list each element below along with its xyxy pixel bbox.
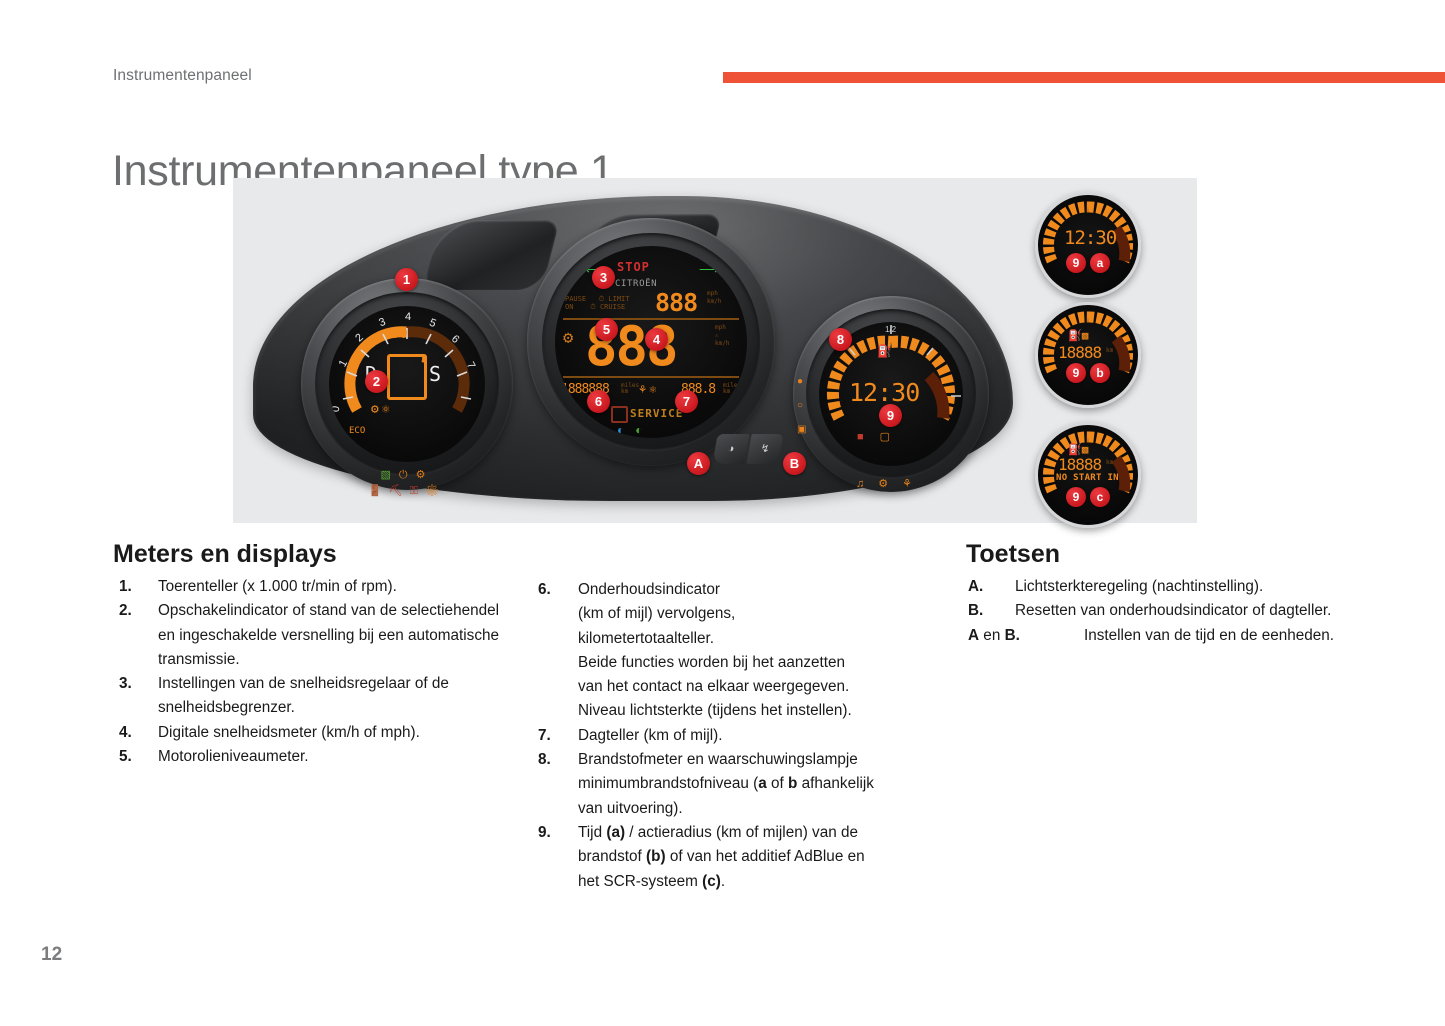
item-text: Tijd (a) / actieradius (km of mijlen) va… [578,824,865,890]
list-item: 4.Digitale snelheidsmeter (km/h of mph). [113,721,513,745]
item-text: Opschakelindicator of stand van de selec… [158,602,499,668]
item-text: van het contact na elkaar weergegeven. [578,678,849,695]
callout-1: 1 [395,268,418,291]
item-number: 2. [119,599,132,623]
middle-list: 6.Onderhoudsindicator (km of mijl) vervo… [538,578,938,894]
cruise-value: 888 [655,288,697,317]
popup-adblue-callout-9: 9 [1066,487,1086,507]
item-text: Onderhoudsindicator [578,581,720,598]
callout-6: 6 [587,390,610,413]
item9-tijd: Tijd [578,824,606,841]
item-text: Lichtsterkteregeling (nachtinstelling). [1015,578,1263,595]
header-rule [723,72,1445,83]
center-display-gauge: ⟵ STOP ⟶ CITROËN PAUSE ⏱ LIMITON ⏱ CRUIS… [527,218,775,466]
list-item: A en B.Instellen van de tijd en de eenhe… [966,624,1396,648]
fuel-telltales-inner: ■▢ [857,430,906,443]
center-telltale-row: ☀◐◐◐ [577,423,654,437]
warning-icons-row: ⚙⚛ [371,402,393,417]
item-text: (km of mijl) vervolgens, [578,605,735,622]
popup-adblue-unit: km [1106,459,1113,466]
popup-adblue-sub: NO START IN [1056,473,1119,483]
callout-8: 8 [829,328,852,351]
tachometer-face: 0 1 2 3 4 5 6 7 ECO D S [329,306,485,462]
popup-time-callout-a: a [1090,253,1110,273]
tachometer-gauge: 0 1 2 3 4 5 6 7 ECO D S [301,278,513,490]
popup-fuel-icon: ⛽▩ [1068,329,1088,342]
callout-5: 5 [595,318,618,341]
popup-fuel-value: 18888 [1058,343,1101,362]
callout-3: 3 [592,266,615,289]
list-item: 9. Tijd (a) / actieradius (km of mijlen)… [538,821,938,894]
callout-9-gauge: 9 [879,404,902,427]
item-number: 5. [119,745,132,769]
callout-4: 4 [645,328,668,351]
list-item: Beide functies worden bij het aanzetten [538,651,938,675]
shift-arrow-icon: ⬇ [419,352,427,368]
item-text: Toerenteller (x 1.000 tr/min of rpm). [158,578,397,595]
list-item: 6.Onderhoudsindicator [538,578,938,602]
item-number: 6. [538,578,551,602]
cruise-units: mphkm/h [707,290,721,306]
list-item: 2.Opschakelindicator of stand van de sel… [113,599,513,672]
fuel-telltales-bottom: ♫⚙⚘ [806,477,976,490]
item-text: Resetten van onderhoudsindicator of dagt… [1015,602,1331,619]
item-letter-ab: A en B. [968,624,1020,648]
service-icon [611,406,628,423]
popup-time-value: 12:30 [1064,227,1116,249]
trip-reset-button[interactable]: ↯ [746,434,783,464]
item-number: 9. [538,821,551,845]
item-text: Brandstofmeter en waarschuwingslampjemin… [578,751,874,817]
popup-time: 12:30 9 a [1035,192,1141,298]
page-number: 12 [41,944,62,966]
item8-line2b: afhankelijk [797,775,874,792]
list-item: (km of mijl) vervolgens, [538,602,938,626]
odometer-unit: mileskm [621,383,639,395]
item-text: kilometertotaalteller. [578,630,714,647]
gear-letter-s: S [429,362,441,386]
item-text: Niveau lichtsterkte (tijdens het instell… [578,702,852,719]
item-number: 1. [119,575,132,599]
column-middle: 6.Onderhoudsindicator (km of mijl) vervo… [538,578,938,894]
list-item: Niveau lichtsterkte (tijdens het instell… [538,699,938,723]
item-text: Beide functies worden bij het aanzetten [578,654,845,671]
brand-label: CITROËN [615,279,657,289]
list-item: 3.Instellingen van de snelheidsregelaar … [113,672,513,721]
svg-text:0: 0 [330,405,343,413]
list-item: 8. Brandstofmeter en waarschuwingslampje… [538,748,938,821]
item8-line2a: minimumbrandstofniveau ( [578,775,758,792]
item8-bold-a: a [758,775,767,792]
item-text: Motorolieniveaumeter. [158,748,309,765]
popup-fuel-callout-b: b [1090,363,1110,383]
cruise-labels: PAUSE ⏱ LIMITON ⏱ CRUISE [565,295,629,311]
heading-toetsen: Toetsen [966,540,1396,569]
running-head: Instrumentenpaneel [113,67,252,85]
oil-level-icon: ⚙ [563,328,573,348]
column-meters-en-displays: Meters en displays 1.Toerenteller (x 1.0… [113,540,513,769]
item9-bold-b: (b) [646,848,666,865]
stop-warning-label: STOP [617,260,650,274]
svg-text:7: 7 [464,360,477,371]
svg-text:3: 3 [377,316,387,329]
list-item: 1.Toerenteller (x 1.000 tr/min of rpm). [113,575,513,599]
toetsen-list: A.Lichtsterkteregeling (nachtinstelling)… [966,575,1396,648]
list-item: 7.Dagteller (km of mijl). [538,724,938,748]
speed-units: mph⚠km/h [715,324,729,348]
list-item: van het contact na elkaar weergegeven. [538,675,938,699]
item9-period: . [721,873,725,890]
clock-value: 12:30 [849,378,919,407]
item-text: Instellingen van de snelheidsregelaar of… [158,675,449,716]
gear-number: 00 [391,326,408,342]
fuel-side-icons: ●○▣ [797,370,806,442]
instrument-panel-illustration: 0 1 2 3 4 5 6 7 ECO D S [233,178,1197,523]
fuel-pump-icon: ⛽ [877,344,892,358]
item-number: 8. [538,748,551,772]
heading-meters-en-displays: Meters en displays [113,540,513,569]
item-letter: B. [968,599,983,623]
fuel-gauge: 1/2 ⛽ 12:30 ■▢ ●○▣ ♫⚙⚘ 8 9 [793,296,989,492]
item9-bold-a: (a) [606,824,625,841]
popup-adblue-value: 18888 [1058,455,1101,474]
item9-line1b: / actieradius (km of mijlen) van de [625,824,858,841]
item8-bold-b: b [788,775,797,792]
callout-2: 2 [365,370,388,393]
svg-text:5: 5 [428,317,438,330]
display-divider-bottom [563,376,739,378]
popup-adblue-range: ⛽▩ 18888 km NO START IN 9 c [1035,422,1141,528]
list-item: B.Resetten van onderhoudsindicator of da… [966,599,1396,623]
door-and-seatbelt-icons: ⚘⚛ [639,382,659,396]
item-text: Instellen van de tijd en de eenheden. [1084,627,1334,644]
item9-bold-c: (c) [702,873,721,890]
item-text: Digitale snelheidsmeter (km/h of mph). [158,724,420,741]
reset-buttons-group: ◑ ↯ A B [711,434,787,474]
item-letter: A. [968,575,983,599]
popup-fuel-range: ⛽▩ 18888 km 9 b [1035,302,1141,408]
eco-label: ECO [349,426,365,436]
popup-fuel-callout-9: 9 [1066,363,1086,383]
item8-line1: Brandstofmeter en waarschuwingslampje [578,751,858,768]
item-text: Dagteller (km of mijl). [578,727,723,744]
callout-b: B [783,452,806,475]
tachometer-telltales-lower: 🚪⛏⚿⚙ [315,484,499,498]
turn-signal-right-icon: ⟶ [699,261,719,278]
popup-adblue-callout-c: c [1090,487,1110,507]
item8-of: of [767,775,788,792]
item-number: 3. [119,672,132,696]
item9-scr: het SCR-systeem [578,873,702,890]
popup-time-callout-9: 9 [1066,253,1086,273]
callout-a: A [687,452,710,475]
item8-line3: van uitvoering). [578,800,683,817]
meters-list: 1.Toerenteller (x 1.000 tr/min of rpm). … [113,575,513,769]
svg-text:1/2: 1/2 [885,325,897,334]
instrument-cluster: 0 1 2 3 4 5 6 7 ECO D S [253,186,1013,516]
popup-fuel-unit: km [1106,347,1113,354]
brightness-button[interactable]: ◑ [712,434,749,464]
item9-brandstof: brandstof [578,848,646,865]
callout-7: 7 [675,390,698,413]
list-item: A.Lichtsterkteregeling (nachtinstelling)… [966,575,1396,599]
tachometer-telltales: ▧⏻⚙ [315,468,499,482]
list-item: kilometertotaalteller. [538,627,938,651]
list-item: 5.Motorolieniveaumeter. [113,745,513,769]
item9-line2b: of van het additief AdBlue en [666,848,865,865]
item-number: 4. [119,721,132,745]
svg-text:4: 4 [405,311,411,323]
column-toetsen: Toetsen A.Lichtsterkteregeling (nachtins… [966,540,1396,648]
trip-unit: mileskm [723,383,741,395]
oil-label: OIL [713,414,729,424]
item-number: 7. [538,724,551,748]
tachometer-bezel: 0 1 2 3 4 5 6 7 ECO D S [315,292,499,476]
service-label: SERVICE [630,407,683,420]
svg-text:1: 1 [337,358,350,369]
